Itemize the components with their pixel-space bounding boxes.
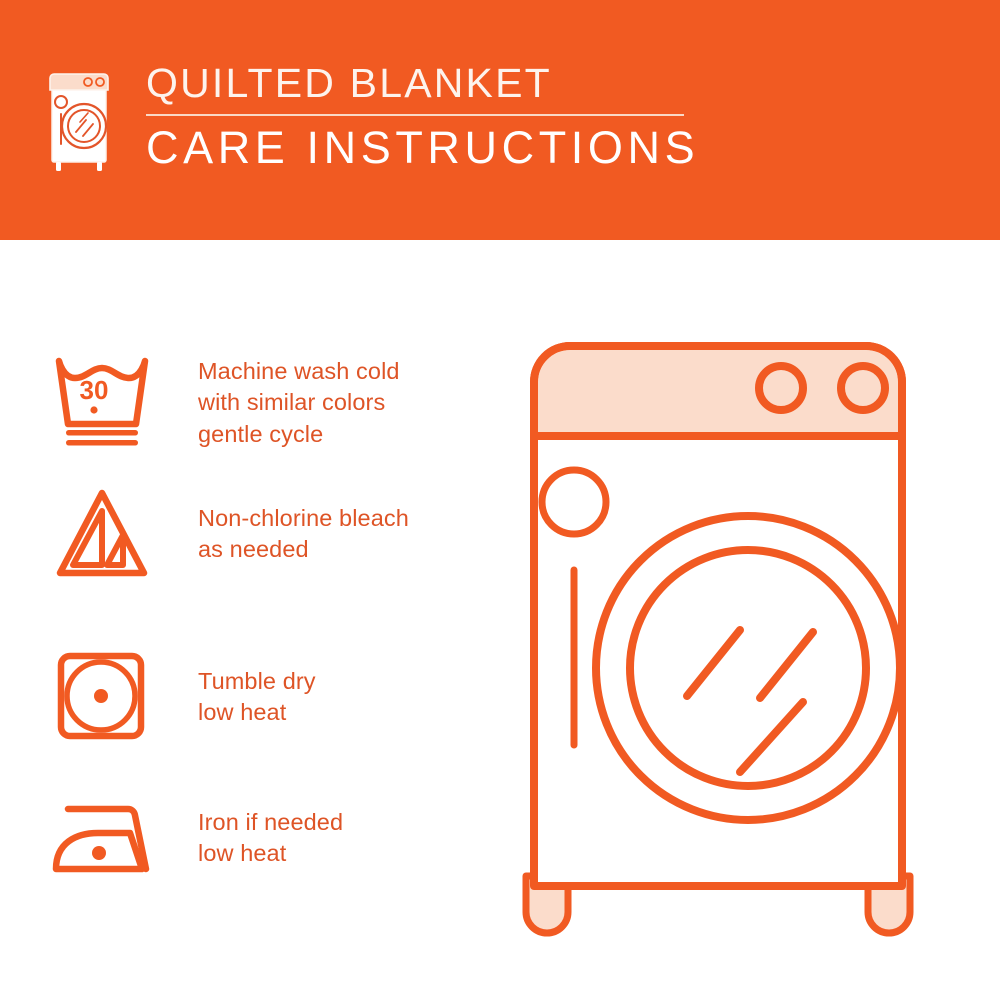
page-title-secondary: CARE INSTRUCTIONS xyxy=(146,124,699,171)
iron-icon xyxy=(52,795,156,893)
page-title-primary: QUILTED BLANKET xyxy=(146,62,699,105)
front-load-washing-machine-illustration xyxy=(488,320,968,950)
care-row-tumble-dry: Tumble dry low heat xyxy=(52,648,472,746)
care-row-bleach: Non-chlorine bleach as needed xyxy=(52,485,472,583)
title-divider xyxy=(146,114,684,116)
washing-machine-icon xyxy=(44,66,116,174)
care-label-tumble-dry: Tumble dry low heat xyxy=(198,648,472,729)
tumble-dry-icon xyxy=(52,648,156,746)
svg-text:30: 30 xyxy=(80,375,109,405)
care-row-iron: Iron if needed low heat xyxy=(52,795,472,893)
care-instructions-page: QUILTED BLANKET CARE INSTRUCTIONS 30 xyxy=(0,0,1000,1000)
bleach-triangle-icon xyxy=(52,485,156,583)
care-label-iron: Iron if needed low heat xyxy=(198,795,472,870)
care-instruction-list: 30 Machine wash cold with similar colors… xyxy=(0,240,480,1000)
care-label-bleach: Non-chlorine bleach as needed xyxy=(198,485,472,566)
care-label-wash: Machine wash cold with similar colors ge… xyxy=(198,352,472,450)
care-row-wash: 30 Machine wash cold with similar colors… xyxy=(52,352,472,450)
header-banner: QUILTED BLANKET CARE INSTRUCTIONS xyxy=(0,0,1000,240)
header-content: QUILTED BLANKET CARE INSTRUCTIONS xyxy=(44,60,699,174)
header-title-block: QUILTED BLANKET CARE INSTRUCTIONS xyxy=(146,60,699,171)
wash-tub-icon: 30 xyxy=(52,352,156,450)
